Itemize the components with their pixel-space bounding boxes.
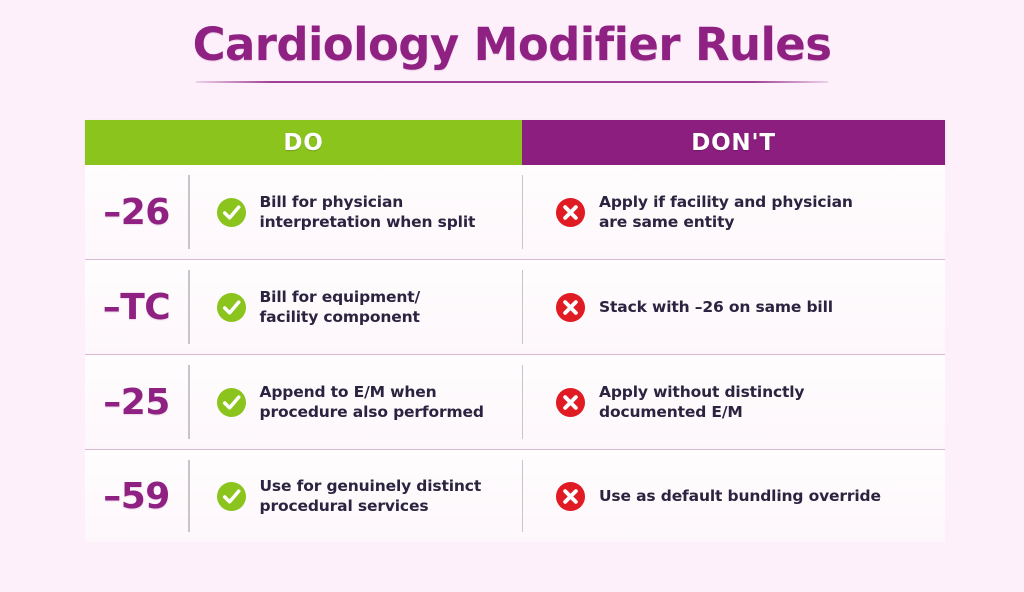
dont-text: Use as default bundling override [599, 486, 881, 506]
dont-text: Apply if facility and physician are same… [599, 192, 853, 233]
do-cell: Use for genuinely distinct procedural se… [190, 450, 522, 542]
title-underline-divider [196, 81, 828, 83]
dont-text-line1: Use as default bundling override [599, 487, 881, 505]
check-circle-icon [216, 481, 247, 512]
modifier-code: –59 [103, 476, 170, 517]
dont-cell: Stack with –26 on same bill [523, 260, 945, 354]
modifier-code: –25 [103, 382, 170, 423]
do-text-line1: Bill for physician [260, 193, 404, 211]
table-row: –59 Use for genuinely distinct procedura… [85, 450, 945, 542]
modifier-code-cell: –TC [85, 260, 188, 354]
x-circle-icon [555, 387, 586, 418]
modifier-rules-table: DO DON'T –26 Bill for physician interpre… [85, 120, 945, 542]
table-header-row: DO DON'T [85, 120, 945, 165]
x-circle-icon [555, 197, 586, 228]
modifier-code-cell: –59 [85, 450, 188, 542]
do-text: Append to E/M when procedure also perfor… [260, 382, 484, 423]
do-text-line1: Use for genuinely distinct [260, 477, 482, 495]
page-title: Cardiology Modifier Rules [0, 22, 1024, 67]
do-cell: Bill for equipment/ facility component [190, 260, 522, 354]
table-row: –25 Append to E/M when procedure also pe… [85, 355, 945, 450]
x-circle-icon [555, 481, 586, 512]
dont-text-line1: Apply if facility and physician [599, 193, 853, 211]
do-text: Bill for physician interpretation when s… [260, 192, 476, 233]
column-header-do: DO [85, 120, 522, 165]
check-circle-icon [216, 197, 247, 228]
do-text: Bill for equipment/ facility component [260, 287, 421, 328]
column-header-dont: DON'T [522, 120, 945, 165]
do-cell: Append to E/M when procedure also perfor… [190, 355, 522, 449]
modifier-code-cell: –26 [85, 165, 188, 259]
do-cell: Bill for physician interpretation when s… [190, 165, 522, 259]
check-circle-icon [216, 387, 247, 418]
do-text-line2: interpretation when split [260, 212, 476, 232]
dont-text: Apply without distinctly documented E/M [599, 382, 804, 423]
do-text-line1: Append to E/M when [260, 383, 437, 401]
table-row: –TC Bill for equipment/ facility compone… [85, 260, 945, 355]
table-body: –26 Bill for physician interpretation wh… [85, 165, 945, 542]
dont-cell: Apply if facility and physician are same… [523, 165, 945, 259]
do-text: Use for genuinely distinct procedural se… [260, 476, 482, 517]
dont-cell: Use as default bundling override [523, 450, 945, 542]
dont-cell: Apply without distinctly documented E/M [523, 355, 945, 449]
modifier-code: –TC [103, 287, 170, 328]
do-text-line2: procedural services [260, 496, 482, 516]
dont-text: Stack with –26 on same bill [599, 297, 833, 317]
title-block: Cardiology Modifier Rules [0, 22, 1024, 83]
table-row: –26 Bill for physician interpretation wh… [85, 165, 945, 260]
do-text-line2: procedure also performed [260, 402, 484, 422]
x-circle-icon [555, 292, 586, 323]
check-circle-icon [216, 292, 247, 323]
do-text-line1: Bill for equipment/ [260, 288, 421, 306]
dont-text-line2: are same entity [599, 212, 853, 232]
dont-text-line1: Apply without distinctly [599, 383, 804, 401]
modifier-code-cell: –25 [85, 355, 188, 449]
modifier-code: –26 [103, 192, 170, 233]
dont-text-line1: Stack with –26 on same bill [599, 298, 833, 316]
do-text-line2: facility component [260, 307, 421, 327]
dont-text-line2: documented E/M [599, 402, 804, 422]
